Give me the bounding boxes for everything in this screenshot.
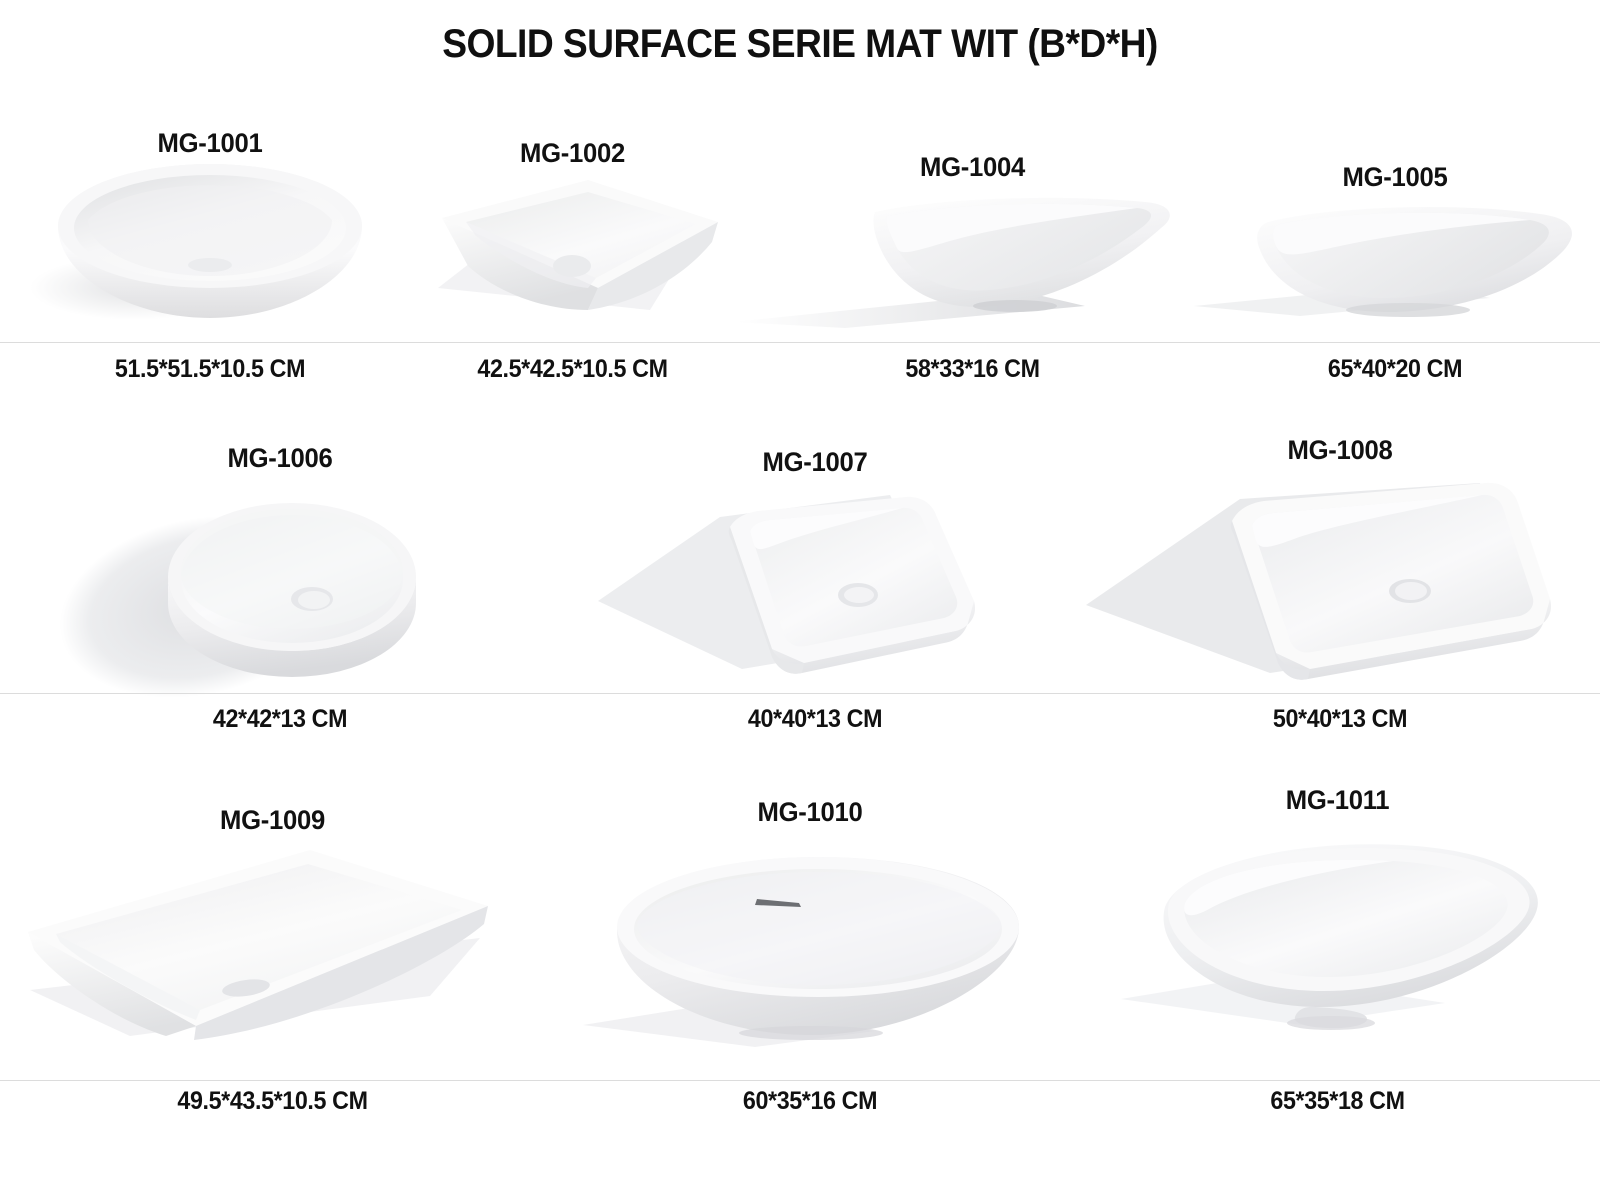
product-dimensions: 60*35*16 CM — [564, 1087, 1057, 1116]
product-card-mg-1005[interactable]: MG-1005 — [1200, 110, 1590, 395]
product-card-mg-1009[interactable]: MG-1009 — [0, 765, 545, 1125]
product-row-1: MG-1001 — [0, 110, 1600, 395]
product-card-mg-1002[interactable]: MG-1002 — [400, 110, 745, 395]
product-dimensions: 49.5*43.5*10.5 CM — [19, 1087, 526, 1116]
product-sku: MG-1002 — [409, 138, 737, 169]
product-dimensions: 65*40*20 CM — [1214, 355, 1577, 384]
row-divider — [0, 342, 1600, 343]
product-card-mg-1011[interactable]: MG-1011 — [1075, 765, 1600, 1125]
product-image-rectangular-rounded — [1080, 473, 1580, 698]
product-dimensions: 42*42*13 CM — [29, 705, 531, 734]
product-image-rectangular-flat — [10, 840, 530, 1060]
product-dimensions: 58*33*16 CM — [761, 355, 1184, 384]
product-dimensions: 40*40*13 CM — [569, 705, 1062, 734]
product-sku: MG-1001 — [30, 128, 391, 159]
product-image-boat-bowl — [725, 182, 1180, 342]
product-image-square-basin — [420, 170, 730, 335]
row-divider — [0, 1080, 1600, 1081]
product-card-mg-1001[interactable]: MG-1001 — [20, 110, 400, 395]
product-image-oval-boat-bowl — [1190, 188, 1590, 343]
product-sku: MG-1008 — [1093, 435, 1587, 466]
product-sku: MG-1007 — [563, 447, 1067, 478]
product-row-2: MG-1006 — [0, 425, 1600, 740]
page-title: SOLID SURFACE SERIE MAT WIT (B*D*H) — [56, 22, 1544, 67]
product-dimensions: 65*35*18 CM — [1093, 1087, 1581, 1116]
product-dimensions: 51.5*51.5*10.5 CM — [33, 355, 386, 384]
product-sku: MG-1009 — [14, 805, 532, 836]
product-card-mg-1010[interactable]: MG-1010 — [545, 765, 1075, 1125]
product-image-round-cylinder — [50, 477, 510, 702]
product-card-mg-1004[interactable]: MG-1004 — [745, 110, 1200, 395]
product-sku: MG-1011 — [1088, 785, 1587, 816]
product-image-oval-vessel — [575, 835, 1045, 1065]
product-image-square-rounded — [590, 483, 1040, 698]
product-sku: MG-1006 — [24, 443, 537, 474]
product-row-3: MG-1009 — [0, 765, 1600, 1125]
product-image-round-bowl — [40, 158, 380, 333]
row-divider — [0, 693, 1600, 694]
product-sku: MG-1004 — [756, 152, 1188, 183]
product-sku: MG-1010 — [558, 797, 1062, 828]
catalog-page: SOLID SURFACE SERIE MAT WIT (B*D*H) MG-1… — [0, 0, 1600, 1200]
product-dimensions: 50*40*13 CM — [1098, 705, 1582, 734]
product-dimensions: 42.5*42.5*10.5 CM — [412, 355, 733, 384]
product-image-oval-tilted — [1105, 823, 1575, 1058]
